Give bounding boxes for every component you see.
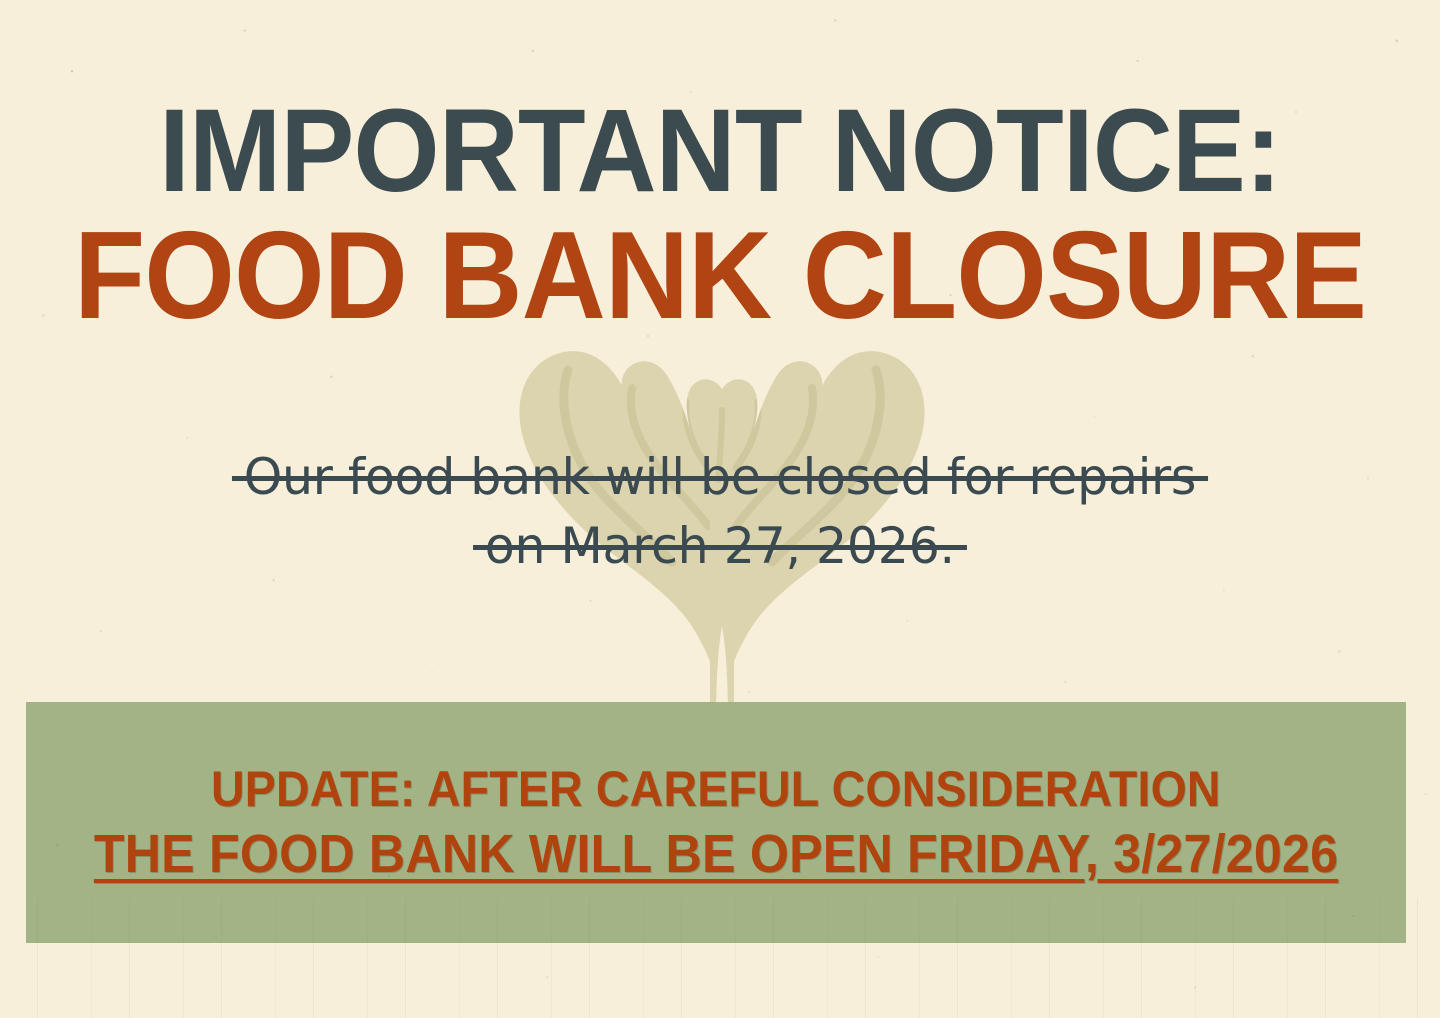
headline-line-important-notice: IMPORTANT NOTICE: bbox=[43, 92, 1397, 210]
page-title: IMPORTANT NOTICE: FOOD BANK CLOSURE bbox=[0, 92, 1440, 338]
update-line-consideration: UPDATE: AFTER CAREFUL CONSIDERATION bbox=[211, 758, 1221, 820]
struck-notice-line-2: on March 27, 2026. bbox=[485, 512, 955, 581]
headline-line-food-bank-closure: FOOD BANK CLOSURE bbox=[43, 214, 1397, 338]
update-banner: UPDATE: AFTER CAREFUL CONSIDERATION THE … bbox=[26, 702, 1406, 943]
struck-through-notice: Our food bank will be closed for repairs… bbox=[0, 443, 1440, 581]
update-line-open-friday: THE FOOD BANK WILL BE OPEN FRIDAY, 3/27/… bbox=[94, 820, 1338, 888]
struck-notice-line-1: Our food bank will be closed for repairs bbox=[244, 443, 1196, 512]
poster-canvas: IMPORTANT NOTICE: FOOD BANK CLOSURE Our … bbox=[0, 0, 1440, 1018]
